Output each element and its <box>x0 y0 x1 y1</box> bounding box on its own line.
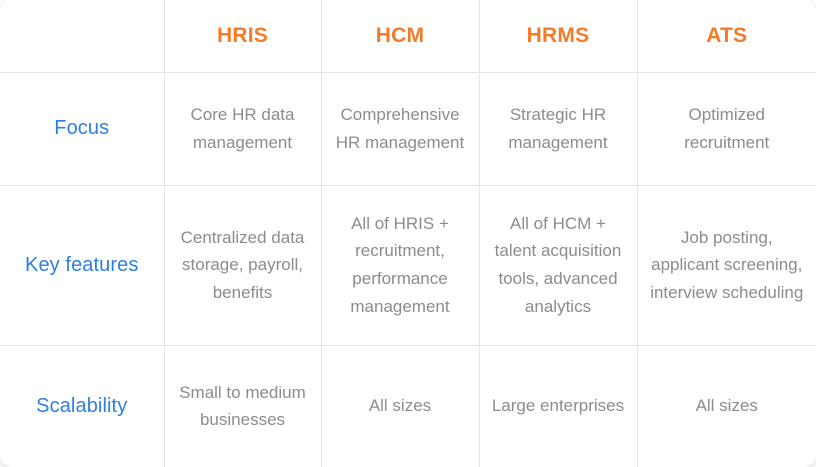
table-row-key-features: Key features Centralized data storage, p… <box>0 185 816 345</box>
row-label-key-features: Key features <box>0 185 164 345</box>
table-row-focus: Focus Core HR data management Comprehens… <box>0 72 816 185</box>
hr-software-comparison-table: HRIS HCM HRMS ATS Focus Core HR data man… <box>0 0 816 467</box>
cell-key-features-ats: Job posting, applicant screening, interv… <box>637 185 816 345</box>
cell-focus-hris: Core HR data management <box>164 72 321 185</box>
column-header-hcm: HCM <box>321 0 479 72</box>
column-header-ats: ATS <box>637 0 816 72</box>
cell-scalability-ats: All sizes <box>637 345 816 467</box>
table-header: HRIS HCM HRMS ATS <box>0 0 816 72</box>
row-label-scalability: Scalability <box>0 345 164 467</box>
cell-scalability-hcm: All sizes <box>321 345 479 467</box>
cell-focus-hcm: Comprehensive HR management <box>321 72 479 185</box>
table-row-scalability: Scalability Small to medium businesses A… <box>0 345 816 467</box>
cell-key-features-hris: Centralized data storage, payroll, benef… <box>164 185 321 345</box>
table-header-row: HRIS HCM HRMS ATS <box>0 0 816 72</box>
table-body: Focus Core HR data management Comprehens… <box>0 72 816 467</box>
cell-focus-ats: Optimized recruitment <box>637 72 816 185</box>
cell-key-features-hcm: All of HRIS + recruitment, performance m… <box>321 185 479 345</box>
column-header-hrms: HRMS <box>479 0 637 72</box>
column-header-hris: HRIS <box>164 0 321 72</box>
table-corner-cell <box>0 0 164 72</box>
cell-key-features-hrms: All of HCM + talent acquisition tools, a… <box>479 185 637 345</box>
comparison-table-card: HRIS HCM HRMS ATS Focus Core HR data man… <box>0 0 816 467</box>
cell-scalability-hrms: Large enterprises <box>479 345 637 467</box>
row-label-focus: Focus <box>0 72 164 185</box>
cell-focus-hrms: Strategic HR management <box>479 72 637 185</box>
cell-scalability-hris: Small to medium businesses <box>164 345 321 467</box>
